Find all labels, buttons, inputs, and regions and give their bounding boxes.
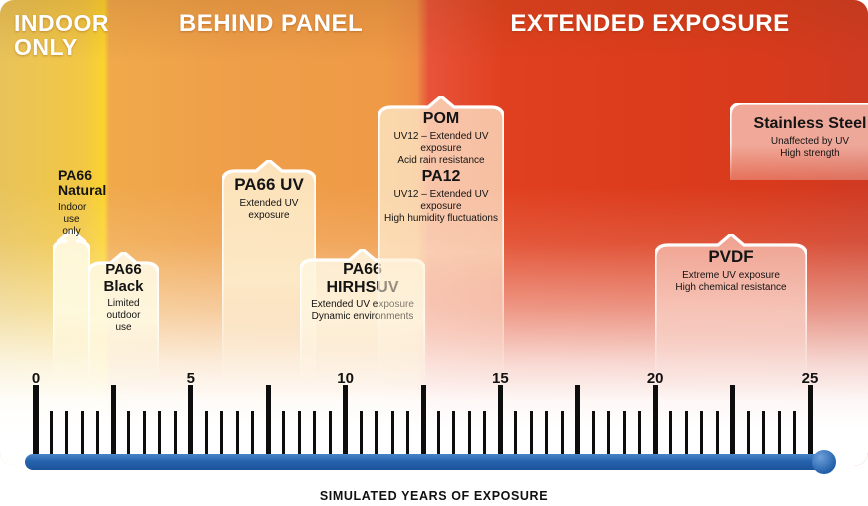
uv-exposure-infographic: INDOOR ONLY BEHIND PANEL EXTENDED EXPOSU… [0,0,868,506]
bar-title: PA66 UV [227,176,311,195]
bar-label: PA66 BlackLimited outdoor use [88,262,159,335]
axis-rail [25,454,835,470]
axis-tick-label: 0 [32,370,40,387]
material-bar-pa12: PA12UV12 – Extended UV exposure High hum… [378,96,504,380]
axis-tick-label: 5 [187,370,195,387]
axis-tick-minor [545,411,548,457]
axis-tick-major [343,385,348,457]
axis-tick-minor [700,411,703,457]
axis-tick-minor [623,411,626,457]
axis-tick-major [808,385,813,457]
axis-tick-major [653,385,658,457]
axis-tick-major [498,385,503,457]
bar-description: Limited outdoor use [93,298,154,335]
axis-tick-minor [778,411,781,457]
bar-description: Extended UV exposure [227,198,311,222]
axis-tick-minor [452,411,455,457]
axis-title: SIMULATED YEARS OF EXPOSURE [0,489,868,503]
bar-description: UV12 – Extended UV exposure High humidit… [383,189,499,226]
material-bar-pa66-black: PA66 BlackLimited outdoor use [88,252,159,380]
axis-tick-major [33,385,39,457]
axis-tick-minor [561,411,564,457]
axis-tick-minor [669,411,672,457]
bar-title: Stainless Steel [735,115,868,133]
bar-title: PA12 [383,168,499,186]
bar-label: PVDFExtreme UV exposure High chemical re… [655,248,807,294]
bar-description: Extreme UV exposure High chemical resist… [660,270,802,294]
axis-tick-label: 20 [647,370,664,387]
material-bar-stainless-steel: Stainless SteelUnaffected by UV High str… [730,103,868,180]
axis-tick-minor [158,411,161,457]
axis-tick-minor [406,411,409,457]
bar-label: PA12UV12 – Extended UV exposure High hum… [378,168,504,225]
axis-tick-minor [298,411,301,457]
axis-tick-major [266,385,271,457]
axis-tick-minor [127,411,130,457]
axis-tick-minor [50,411,53,457]
material-bar-pa66-natural: PA66 NaturalIndoor use only [53,230,90,380]
axis-tick-minor [607,411,610,457]
axis-tick-minor [762,411,765,457]
banner-shade [0,0,868,62]
axis-tick-minor [638,411,641,457]
axis-tick-major [575,385,580,457]
axis-tick-minor [793,411,796,457]
axis-tick-label: 10 [337,370,354,387]
axis-tick-minor [530,411,533,457]
axis-tick-minor [282,411,285,457]
axis-tick-minor [468,411,471,457]
axis-tick-major [421,385,426,457]
axis-tick-minor [205,411,208,457]
bar-title: PA66 Black [93,262,154,295]
bar-label: PA66 NaturalIndoor use only [53,168,90,238]
material-bar-pvdf: PVDFExtreme UV exposure High chemical re… [655,234,807,380]
axis-tick-minor [514,411,517,457]
axis-tick-minor [592,411,595,457]
bar-label: PA66 UVExtended UV exposure [222,176,316,222]
axis-tick-minor [220,411,223,457]
axis-tick-major [730,385,735,457]
bar-shape [53,230,90,380]
axis-tick-minor [391,411,394,457]
bar-description: Indoor use only [58,202,85,239]
axis-tick-minor [483,411,486,457]
axis-tick-minor [143,411,146,457]
axis-tick-minor [65,411,68,457]
axis-tick-label: 15 [492,370,509,387]
axis-tick-minor [716,411,719,457]
bar-title: PVDF [660,248,802,267]
axis-tick-minor [81,411,84,457]
bar-title: PA66 Natural [58,168,85,199]
bar-label: Stainless SteelUnaffected by UV High str… [730,115,868,160]
axis-tick-minor [329,411,332,457]
axis-tick-major [111,385,116,457]
axis-tick-minor [96,411,99,457]
axis-tick-minor [437,411,440,457]
axis-tick-minor [236,411,239,457]
axis-tick-minor [313,411,316,457]
axis-tick-major [188,385,193,457]
axis-end-knob [812,450,836,474]
bar-description: Unaffected by UV High strength [735,136,868,160]
axis-tick-minor [360,411,363,457]
axis-tick-minor [747,411,750,457]
axis-tick-label: 25 [802,370,819,387]
axis-tick-minor [375,411,378,457]
axis-tick-minor [685,411,688,457]
axis-tick-minor [174,411,177,457]
axis-tick-minor [251,411,254,457]
